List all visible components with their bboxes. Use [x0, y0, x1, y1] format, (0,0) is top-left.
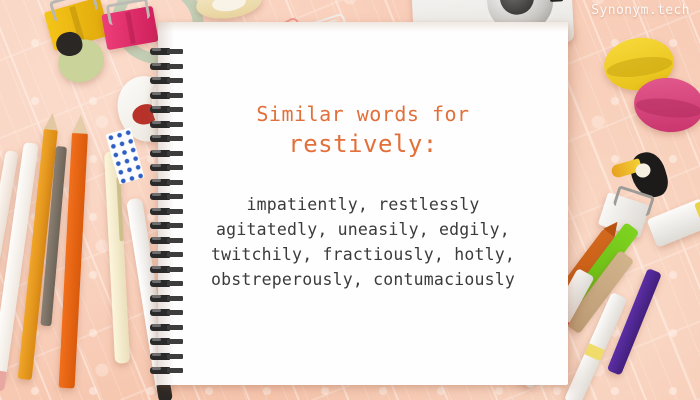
- spiral-ring: [150, 324, 184, 331]
- screenshot-canvas: Similar words for restively: impatiently…: [0, 0, 700, 400]
- spiral-ring: [150, 179, 184, 186]
- spiral-ring: [150, 92, 184, 99]
- camera-shutter-button: [550, 0, 564, 2]
- synonym-line: impatiently, restlessly: [158, 192, 568, 217]
- page-headword: restively:: [158, 130, 568, 158]
- spiral-notebook: Similar words for restively: impatiently…: [150, 22, 568, 385]
- spiral-ring: [150, 77, 184, 84]
- synonym-line: agitatedly, uneasily, edgily,: [158, 217, 568, 242]
- spiral-ring: [150, 367, 184, 374]
- spiral-ring: [150, 338, 184, 345]
- paint-tube-cap: [694, 197, 700, 226]
- pencil-orange-2-tip: [72, 114, 89, 134]
- synonym-line: twitchily, fractiously, hotly,: [158, 242, 568, 267]
- spiral-ring: [150, 309, 184, 316]
- spiral-ring: [150, 353, 184, 360]
- page-top-edge: [158, 22, 568, 31]
- pencil-orange-1-tip: [44, 112, 60, 130]
- page-title: Similar words for: [158, 102, 568, 126]
- spiral-ring: [150, 63, 184, 70]
- spiral-ring: [150, 295, 184, 302]
- synonym-list: impatiently, restlesslyagitatedly, uneas…: [158, 192, 568, 292]
- spiral-ring: [150, 48, 184, 55]
- spiral-ring: [150, 164, 184, 171]
- synonym-line: obstreperously, contumaciously: [158, 267, 568, 292]
- site-watermark: Synonym.tech: [591, 3, 690, 18]
